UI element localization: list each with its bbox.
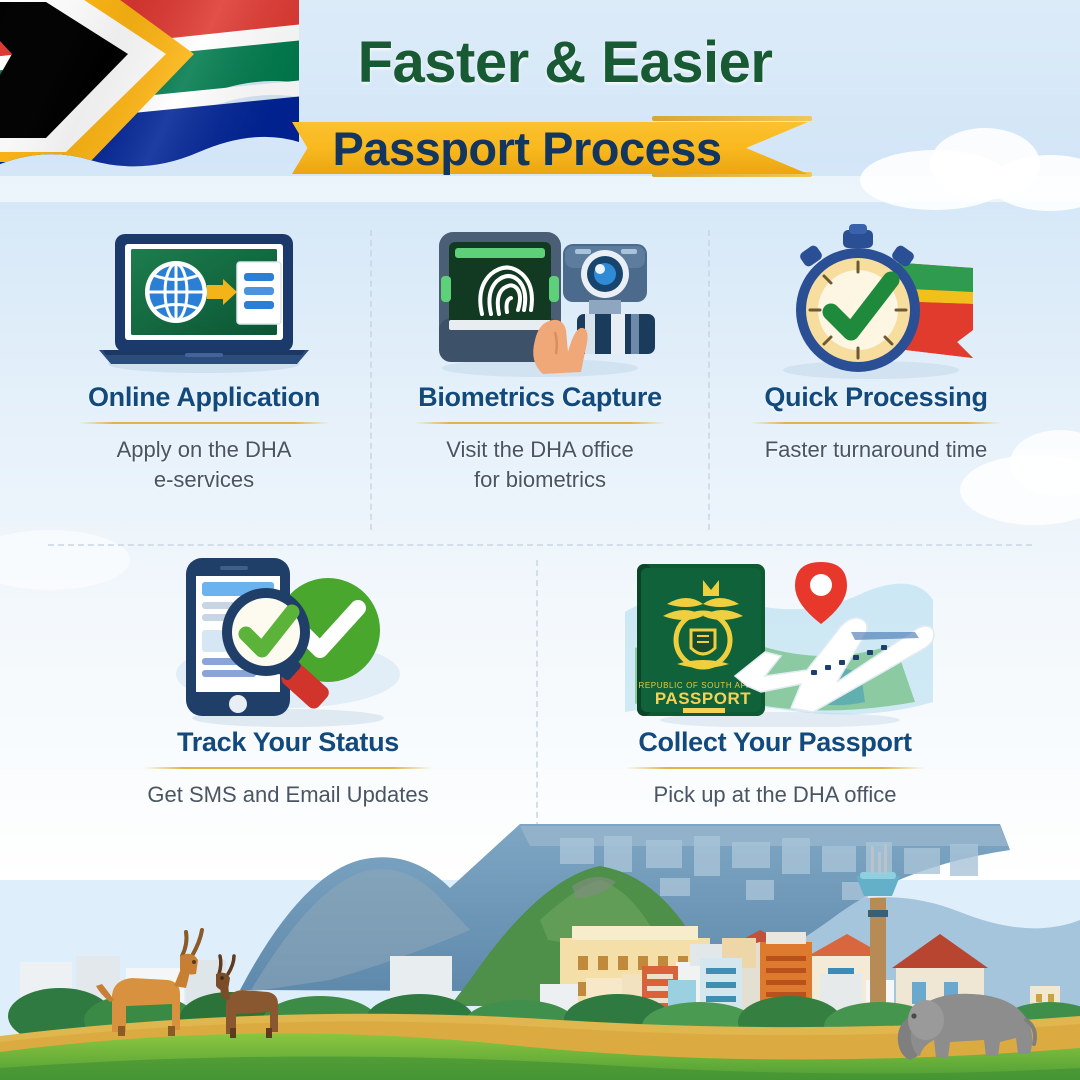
divider-vertical-1 bbox=[370, 230, 372, 530]
fingerprint-scanner-camera-icon bbox=[425, 222, 655, 382]
divider-horizontal bbox=[48, 544, 1032, 546]
step-title: Track Your Status bbox=[108, 727, 468, 758]
title-underline bbox=[751, 422, 1001, 424]
step-card-track-your-status[interactable]: Track Your Status Get SMS and Email Upda… bbox=[108, 552, 468, 810]
step-card-online-application[interactable]: Online Application Apply on the DHAe-ser… bbox=[44, 222, 364, 494]
title-underline bbox=[415, 422, 665, 424]
passport-word-text: PASSPORT bbox=[655, 689, 751, 708]
steps-grid: Online Application Apply on the DHAe-ser… bbox=[0, 222, 1080, 842]
step-card-collect-your-passport[interactable]: REPUBLIC OF SOUTH AFRICA PASSPORT bbox=[575, 552, 975, 810]
step-card-biometrics-capture[interactable]: Biometrics Capture Visit the DHA officef… bbox=[380, 222, 700, 494]
title-ribbon: Passport Process bbox=[292, 116, 812, 178]
laptop-globe-form-icon bbox=[89, 222, 319, 382]
infographic-root: Faster & Easier Passport Process bbox=[0, 0, 1080, 1080]
title-underline bbox=[143, 767, 433, 769]
title-underline bbox=[79, 422, 329, 424]
cape-town-skyline-illustration bbox=[0, 780, 1080, 1080]
step-card-quick-processing[interactable]: Quick Processing Faster turnaround time bbox=[716, 222, 1036, 465]
divider-vertical-2 bbox=[708, 230, 710, 530]
step-subtitle: Faster turnaround time bbox=[716, 435, 1036, 465]
step-title: Collect Your Passport bbox=[575, 727, 975, 758]
page-title-line2: Passport Process bbox=[292, 123, 762, 173]
south-african-flag bbox=[0, 0, 324, 207]
step-title: Biometrics Capture bbox=[380, 382, 700, 413]
step-title: Quick Processing bbox=[716, 382, 1036, 413]
step-title: Online Application bbox=[44, 382, 364, 413]
step-subtitle: Apply on the DHAe-services bbox=[44, 435, 364, 494]
page-title-line1: Faster & Easier bbox=[330, 34, 800, 92]
smartphone-magnifier-check-icon bbox=[168, 552, 408, 727]
stopwatch-check-ribbon-icon bbox=[761, 222, 991, 382]
passport-airplane-pin-icon: REPUBLIC OF SOUTH AFRICA PASSPORT bbox=[615, 552, 935, 727]
step-subtitle: Visit the DHA officefor biometrics bbox=[380, 435, 700, 494]
title-underline bbox=[625, 767, 925, 769]
